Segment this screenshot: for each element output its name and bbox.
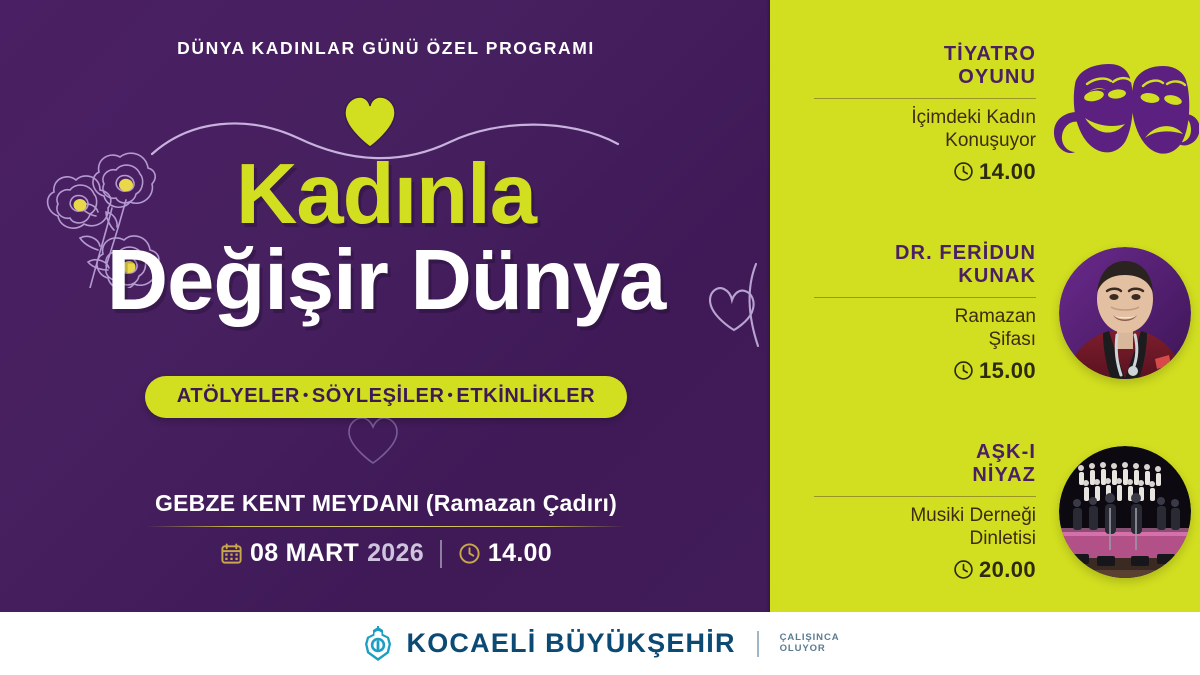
event-time: 20.00 <box>979 557 1036 583</box>
clock-icon <box>458 542 481 565</box>
clock-icon <box>953 360 974 381</box>
date-time-divider <box>440 540 442 568</box>
event-subtitle-line-2: Dinletisi <box>969 528 1036 549</box>
event-title-line-2: KUNAK <box>958 265 1036 287</box>
event-text: TİYATRO OYUNU İçimdeki Kadın Konuşuyor <box>814 43 1050 185</box>
title-line-1: Kadınla <box>0 155 772 236</box>
eyebrow-text: DÜNYA KADINLAR GÜNÜ ÖZEL PROGRAMI <box>0 38 772 59</box>
event-title: TİYATRO OYUNU <box>814 43 1036 89</box>
clock-icon <box>953 161 974 182</box>
clock-icon <box>953 559 974 580</box>
pill-separator-2: • <box>445 387 457 404</box>
event-card[interactable]: AŞK-I NİYAZ Musiki Derneği Dinletisi <box>770 428 1200 596</box>
event-title-line-2: OYUNU <box>958 66 1036 88</box>
activities-pill-wrap: ATÖLYELER•SÖYLEŞİLER•ETKİNLİKLER <box>0 376 772 418</box>
event-media <box>1050 247 1200 379</box>
title-line-2: Değişir Dünya <box>0 238 772 323</box>
heart-icon <box>341 95 399 149</box>
pill-item-1: ATÖLYELER <box>177 385 300 407</box>
choir-photo <box>1059 446 1191 578</box>
pill-separator-1: • <box>300 387 312 404</box>
event-time-row: 14.00 <box>814 159 1036 185</box>
event-text: Dr. FERİDUN KUNAK Ramazan Şifası 15.0 <box>814 242 1050 384</box>
venue-divider <box>146 526 626 527</box>
event-title-line-1: TİYATRO <box>944 43 1036 65</box>
event-time: 15.00 <box>979 358 1036 384</box>
activities-pill: ATÖLYELER•SÖYLEŞİLER•ETKİNLİKLER <box>145 376 627 418</box>
venue-text: GEBZE KENT MEYDANI (Ramazan Çadırı) <box>0 490 772 517</box>
date-time-row: 08 MART 2026 14.00 <box>0 539 772 568</box>
event-title-line-1: Dr. FERİDUN <box>895 242 1036 264</box>
event-subtitle: Ramazan Şifası <box>814 306 1036 352</box>
poster-root: DÜNYA KADINLAR GÜNÜ ÖZEL PROGRAMI <box>0 0 1200 675</box>
event-time-row: 20.00 <box>814 557 1036 583</box>
event-time: 14.00 <box>979 159 1036 185</box>
event-title: Dr. FERİDUN KUNAK <box>814 242 1036 288</box>
event-subtitle-line-1: İçimdeki Kadın <box>911 107 1036 128</box>
event-title-line-1: AŞK-I <box>976 441 1036 463</box>
footer: KOCAELİ BÜYÜKŞEHİR ÇALIŞINCA OLUYOR <box>0 612 1200 675</box>
footer-tagline: ÇALIŞINCA OLUYOR <box>780 633 840 654</box>
event-subtitle-line-1: Ramazan <box>955 306 1036 327</box>
date-text: 08 MART <box>250 539 359 568</box>
event-media <box>1050 56 1200 172</box>
year-text: 2026 <box>367 539 424 568</box>
footer-logo[interactable]: KOCAELİ BÜYÜKŞEHİR ÇALIŞINCA OLUYOR <box>361 626 840 662</box>
theater-masks-icon <box>1051 56 1199 172</box>
event-divider <box>814 297 1036 299</box>
right-panel: TİYATRO OYUNU İçimdeki Kadın Konuşuyor <box>770 0 1200 612</box>
event-card[interactable]: TİYATRO OYUNU İçimdeki Kadın Konuşuyor <box>770 34 1200 194</box>
footer-tagline-line-2: OLUYOR <box>780 643 826 654</box>
event-text: AŞK-I NİYAZ Musiki Derneği Dinletisi <box>814 441 1050 583</box>
event-subtitle: Musiki Derneği Dinletisi <box>814 505 1036 551</box>
footer-tagline-line-1: ÇALIŞINCA <box>780 632 840 643</box>
event-time-row: 15.00 <box>814 358 1036 384</box>
pill-item-2: SÖYLEŞİLER <box>312 385 445 407</box>
footer-divider <box>757 631 759 657</box>
time-text: 14.00 <box>488 539 552 568</box>
left-panel: DÜNYA KADINLAR GÜNÜ ÖZEL PROGRAMI <box>0 0 772 612</box>
calendar-icon <box>220 542 243 565</box>
event-title-line-2: NİYAZ <box>972 464 1036 486</box>
event-divider <box>814 98 1036 100</box>
pill-item-3: ETKİNLİKLER <box>456 385 595 407</box>
venue-block: GEBZE KENT MEYDANI (Ramazan Çadırı) 08 M… <box>0 490 772 568</box>
event-subtitle-line-2: Konuşuyor <box>945 130 1036 151</box>
event-subtitle-line-2: Şifası <box>988 329 1036 350</box>
title-block: Kadınla Değişir Dünya <box>0 155 772 323</box>
portrait-photo <box>1059 247 1191 379</box>
kocaeli-shield-logo-icon <box>361 626 395 662</box>
event-subtitle-line-1: Musiki Derneği <box>910 505 1036 526</box>
footer-brand: KOCAELİ BÜYÜKŞEHİR <box>407 628 736 659</box>
heart-outline-decoration <box>345 415 401 465</box>
event-media <box>1050 446 1200 578</box>
event-divider <box>814 496 1036 498</box>
event-subtitle: İçimdeki Kadın Konuşuyor <box>814 107 1036 153</box>
event-title: AŞK-I NİYAZ <box>814 441 1036 487</box>
event-card[interactable]: Dr. FERİDUN KUNAK Ramazan Şifası 15.0 <box>770 228 1200 398</box>
